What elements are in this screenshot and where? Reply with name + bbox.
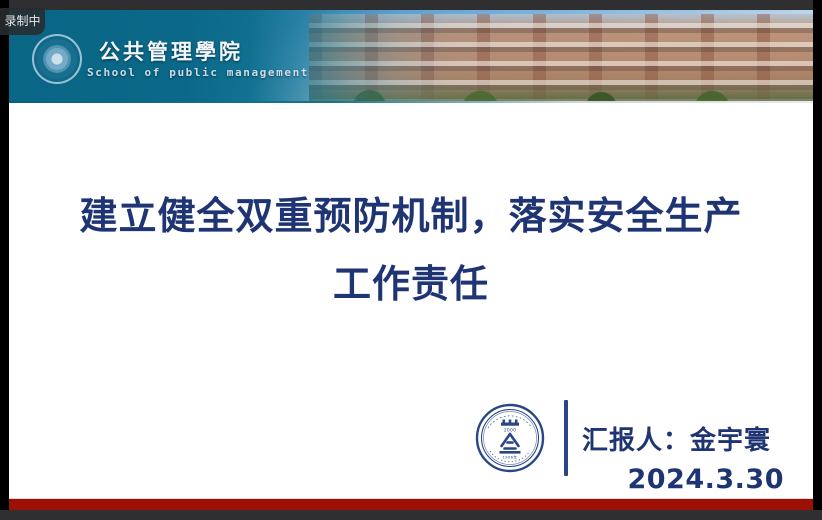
recording-indicator-badge: 录制中 — [0, 8, 45, 35]
public-management-seal-icon: 2000 1906年 — [474, 402, 546, 474]
presentation-date: 2024.3.30 — [627, 464, 784, 495]
school-name-english: School of public management — [87, 66, 309, 79]
window-chrome-top — [0, 0, 822, 10]
title-line-2: 工作责任 — [9, 250, 813, 318]
accent-stripe — [9, 499, 813, 510]
screen-frame: 公共管理學院 School of public management 建立健全双… — [0, 0, 822, 520]
presentation-slide: 公共管理學院 School of public management 建立健全双… — [9, 10, 813, 510]
window-chrome-right — [813, 0, 822, 520]
svg-text:1906年: 1906年 — [503, 455, 518, 460]
slide-title: 建立健全双重预防机制，落实安全生产 工作责任 — [9, 182, 813, 318]
school-name-chinese: 公共管理學院 — [99, 36, 243, 66]
presenter-name: 汇报人：金宇寰 — [582, 420, 771, 457]
banner-bottom-edge — [9, 101, 813, 103]
title-line-1: 建立健全双重预防机制，落实安全生产 — [9, 182, 813, 250]
window-chrome-left — [0, 0, 9, 520]
slide-header-banner: 公共管理學院 School of public management — [9, 10, 813, 103]
presenter-divider — [564, 400, 568, 476]
presenter-block: 2000 1906年 汇报人：金宇寰 2024.3.30 — [464, 398, 804, 490]
school-seal-icon — [32, 34, 82, 84]
window-chrome-bottom — [0, 510, 822, 520]
